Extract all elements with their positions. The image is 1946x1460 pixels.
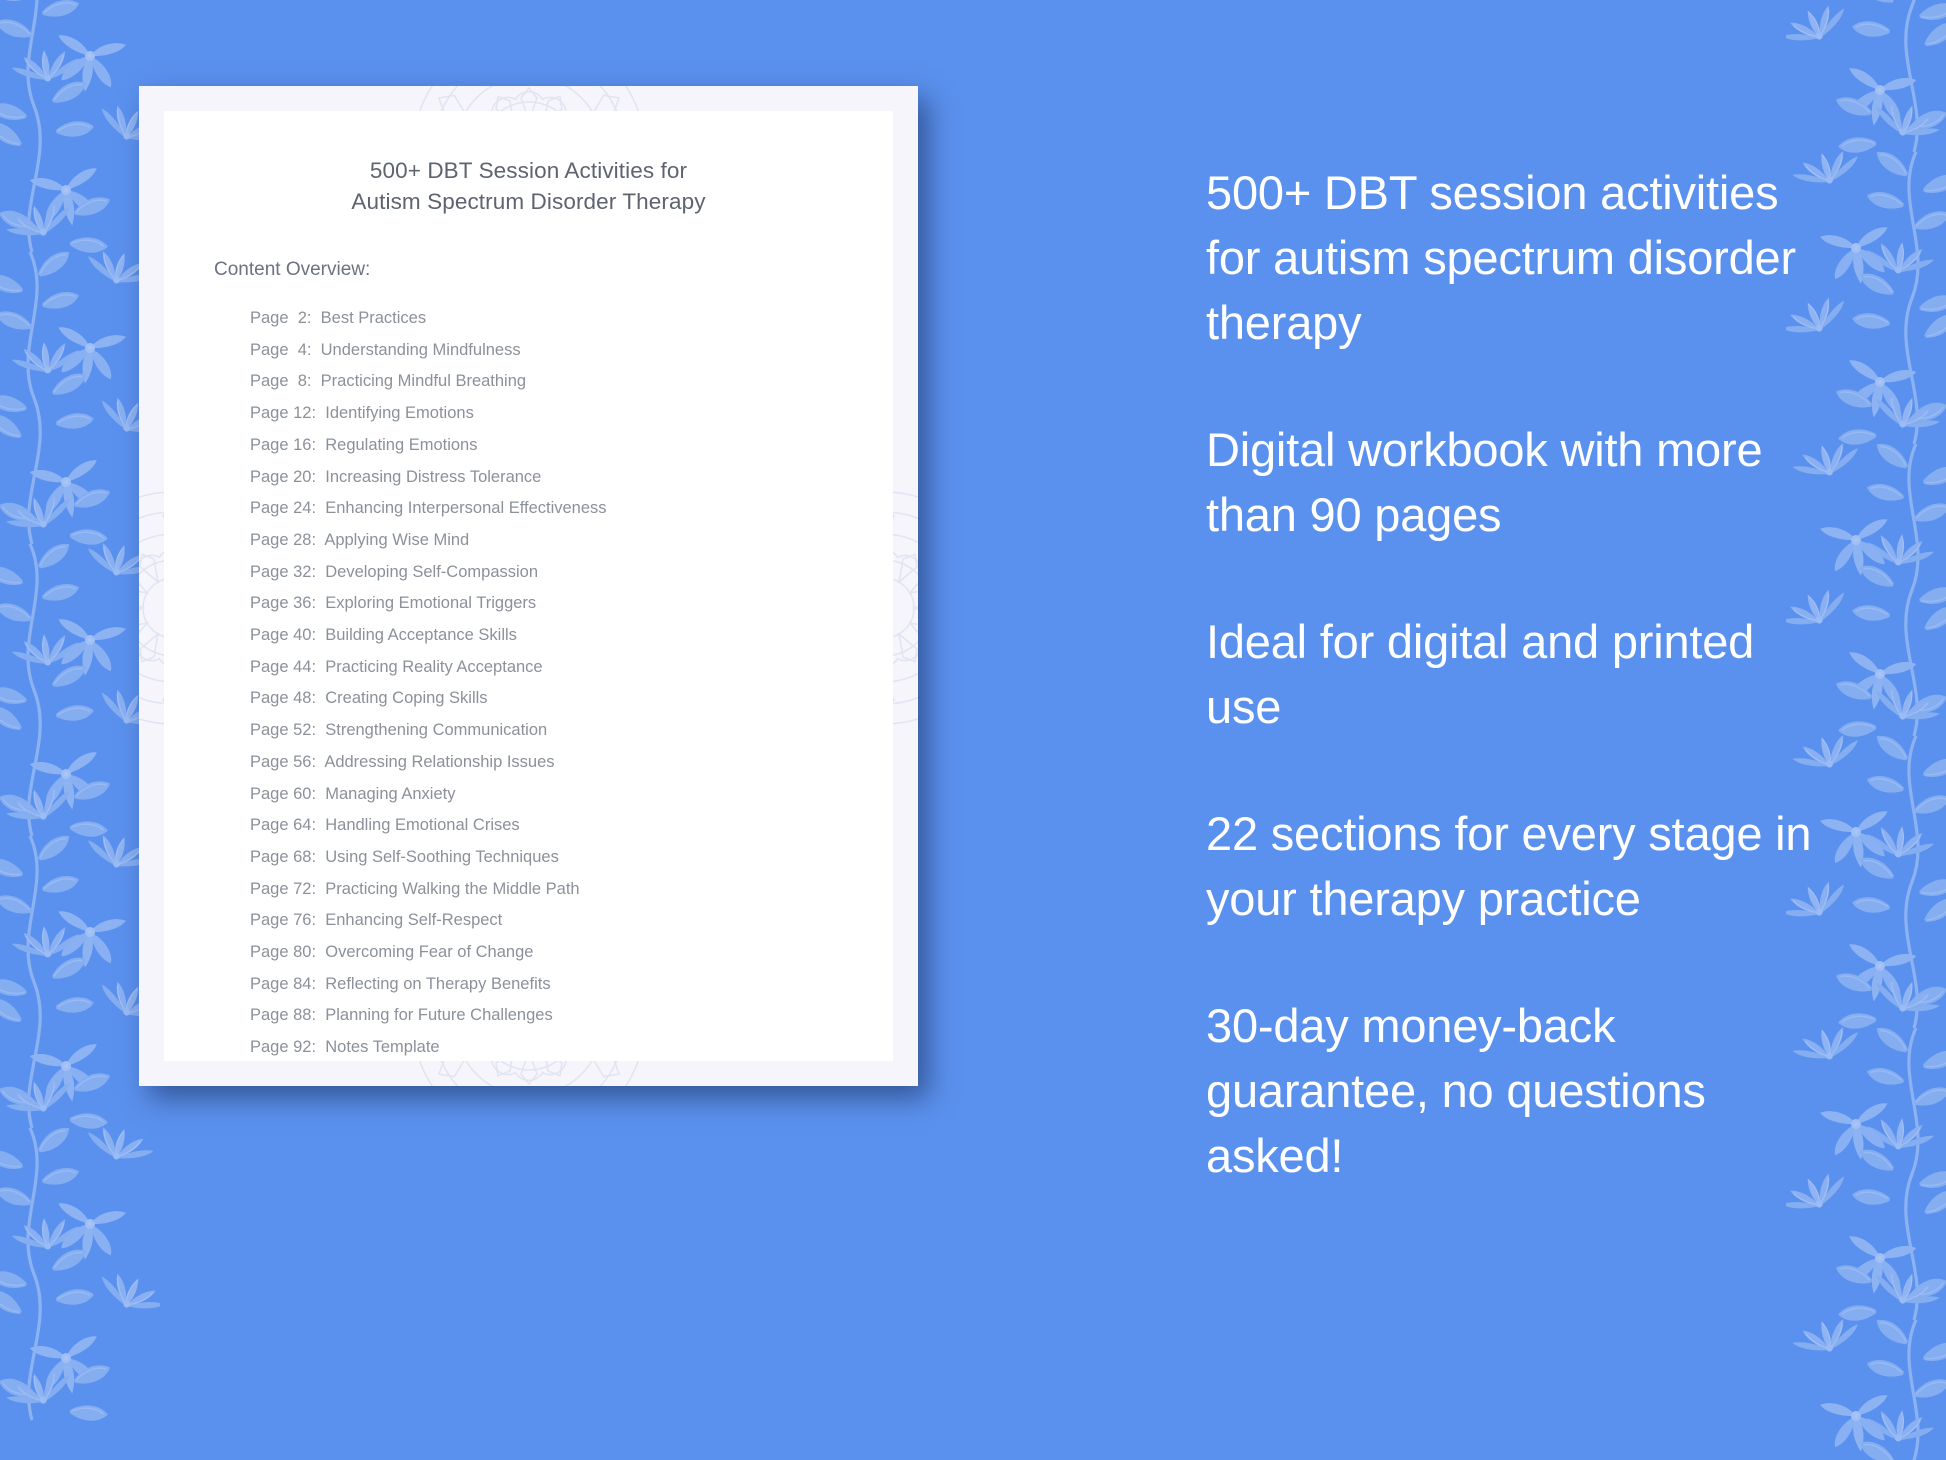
page-title: 500+ DBT Session Activities for Autism S… bbox=[204, 155, 853, 217]
toc-entry-title: Addressing Relationship Issues bbox=[324, 753, 554, 771]
toc-page-label: Page 60: bbox=[250, 785, 316, 803]
toc-entry-title: Applying Wise Mind bbox=[324, 531, 469, 549]
toc-entry-title: Practicing Walking the Middle Path bbox=[325, 880, 579, 898]
toc-page-label: Page 16: bbox=[250, 436, 316, 454]
marketing-block: 500+ DBT session activities for autism s… bbox=[1206, 160, 1826, 355]
toc-page-label: Page 2: bbox=[250, 309, 311, 327]
toc-entry-title: Developing Self-Compassion bbox=[325, 563, 538, 581]
toc-entry-title: Using Self-Soothing Techniques bbox=[325, 848, 559, 866]
toc-entry: Page 20: Increasing Distress Tolerance bbox=[250, 462, 853, 494]
toc-page-label: Page 12: bbox=[250, 404, 316, 422]
toc-entry: Page 28: Applying Wise Mind bbox=[250, 525, 853, 557]
toc-entry: Page 32: Developing Self-Compassion bbox=[250, 557, 853, 589]
toc-page-label: Page 24: bbox=[250, 499, 316, 517]
marketing-bullets: 500+ DBT session activities for autism s… bbox=[1206, 160, 1826, 1188]
toc-entry: Page 56: Addressing Relationship Issues bbox=[250, 747, 853, 779]
marketing-block: Digital workbook with more than 90 pages bbox=[1206, 417, 1826, 547]
toc-entry-title: Identifying Emotions bbox=[325, 404, 474, 422]
toc-page-label: Page 88: bbox=[250, 1006, 316, 1024]
toc-page-label: Page 76: bbox=[250, 911, 316, 929]
toc-page-label: Page 84: bbox=[250, 975, 316, 993]
toc-page-label: Page 8: bbox=[250, 372, 311, 390]
toc-page-label: Page 68: bbox=[250, 848, 316, 866]
toc-entry-title: Enhancing Self-Respect bbox=[325, 911, 502, 929]
toc-entry: Page 8: Practicing Mindful Breathing bbox=[250, 366, 853, 398]
toc-entry-title: Regulating Emotions bbox=[325, 436, 477, 454]
toc-entry-title: Handling Emotional Crises bbox=[325, 816, 519, 834]
toc-page-label: Page 64: bbox=[250, 816, 316, 834]
toc-entry-title: Practicing Reality Acceptance bbox=[325, 658, 542, 676]
toc-entry: Page 52: Strengthening Communication bbox=[250, 715, 853, 747]
toc-entry: Page 24: Enhancing Interpersonal Effecti… bbox=[250, 493, 853, 525]
page-title-line-2: Autism Spectrum Disorder Therapy bbox=[204, 186, 853, 217]
toc-entry: Page 80: Overcoming Fear of Change bbox=[250, 937, 853, 969]
toc-entry-title: Enhancing Interpersonal Effectiveness bbox=[325, 499, 606, 517]
toc-entry: Page 36: Exploring Emotional Triggers bbox=[250, 588, 853, 620]
toc-entry: Page 76: Enhancing Self-Respect bbox=[250, 905, 853, 937]
toc-entry: Page 72: Practicing Walking the Middle P… bbox=[250, 874, 853, 906]
toc-entry: Page 44: Practicing Reality Acceptance bbox=[250, 652, 853, 684]
marketing-block: 22 sections for every stage in your ther… bbox=[1206, 801, 1826, 931]
toc-entry: Page 84: Reflecting on Therapy Benefits bbox=[250, 969, 853, 1001]
toc-entry-title: Strengthening Communication bbox=[325, 721, 547, 739]
toc-entry-title: Exploring Emotional Triggers bbox=[325, 594, 536, 612]
toc-page-label: Page 56: bbox=[250, 753, 316, 771]
toc-entry-title: Notes Template bbox=[325, 1038, 439, 1056]
toc-entry-title: Practicing Mindful Breathing bbox=[321, 372, 526, 390]
toc-entry-title: Increasing Distress Tolerance bbox=[325, 468, 541, 486]
toc-entry-title: Overcoming Fear of Change bbox=[325, 943, 533, 961]
floral-border-left bbox=[0, 0, 160, 1460]
toc-entry-title: Creating Coping Skills bbox=[325, 689, 487, 707]
toc-page-label: Page 40: bbox=[250, 626, 316, 644]
toc-entry: Page 92: Notes Template bbox=[250, 1032, 853, 1064]
toc-entry: Page 64: Handling Emotional Crises bbox=[250, 810, 853, 842]
toc-entry-title: Planning for Future Challenges bbox=[325, 1006, 552, 1024]
toc-entry: Page 12: Identifying Emotions bbox=[250, 398, 853, 430]
toc-entry: Page 40: Building Acceptance Skills bbox=[250, 620, 853, 652]
toc-entry-title: Best Practices bbox=[321, 309, 426, 327]
marketing-block: Ideal for digital and printed use bbox=[1206, 609, 1826, 739]
toc-entry-title: Managing Anxiety bbox=[325, 785, 455, 803]
toc-entry: Page 48: Creating Coping Skills bbox=[250, 683, 853, 715]
toc-entry-title: Building Acceptance Skills bbox=[325, 626, 517, 644]
toc-entry: Page 16: Regulating Emotions bbox=[250, 430, 853, 462]
toc-entry: Page 60: Managing Anxiety bbox=[250, 779, 853, 811]
toc-page-label: Page 36: bbox=[250, 594, 316, 612]
page-title-line-1: 500+ DBT Session Activities for bbox=[204, 155, 853, 186]
toc-page-label: Page 48: bbox=[250, 689, 316, 707]
toc-entry: Page 88: Planning for Future Challenges bbox=[250, 1000, 853, 1032]
toc-entry-title: Understanding Mindfulness bbox=[321, 341, 521, 359]
toc-page-label: Page 20: bbox=[250, 468, 316, 486]
toc-entry: Page 68: Using Self-Soothing Techniques bbox=[250, 842, 853, 874]
toc-page-label: Page 28: bbox=[250, 531, 316, 549]
toc-page-label: Page 92: bbox=[250, 1038, 316, 1056]
toc-page-label: Page 80: bbox=[250, 943, 316, 961]
toc-page-label: Page 72: bbox=[250, 880, 316, 898]
toc-entry: Page 4: Understanding Mindfulness bbox=[250, 335, 853, 367]
document-page: 500+ DBT Session Activities for Autism S… bbox=[164, 111, 893, 1061]
content-overview-heading: Content Overview: bbox=[214, 259, 853, 281]
toc-page-label: Page 32: bbox=[250, 563, 316, 581]
toc-page-label: Page 52: bbox=[250, 721, 316, 739]
marketing-block: 30-day money-back guarantee, no question… bbox=[1206, 993, 1826, 1188]
document-preview-card[interactable]: 500+ DBT Session Activities for Autism S… bbox=[139, 86, 918, 1086]
toc-entry-title: Reflecting on Therapy Benefits bbox=[325, 975, 550, 993]
toc-entry: Page 2: Best Practices bbox=[250, 303, 853, 335]
toc-page-label: Page 4: bbox=[250, 341, 311, 359]
toc-page-label: Page 44: bbox=[250, 658, 316, 676]
table-of-contents: Page 2: Best PracticesPage 4: Understand… bbox=[250, 303, 853, 1064]
